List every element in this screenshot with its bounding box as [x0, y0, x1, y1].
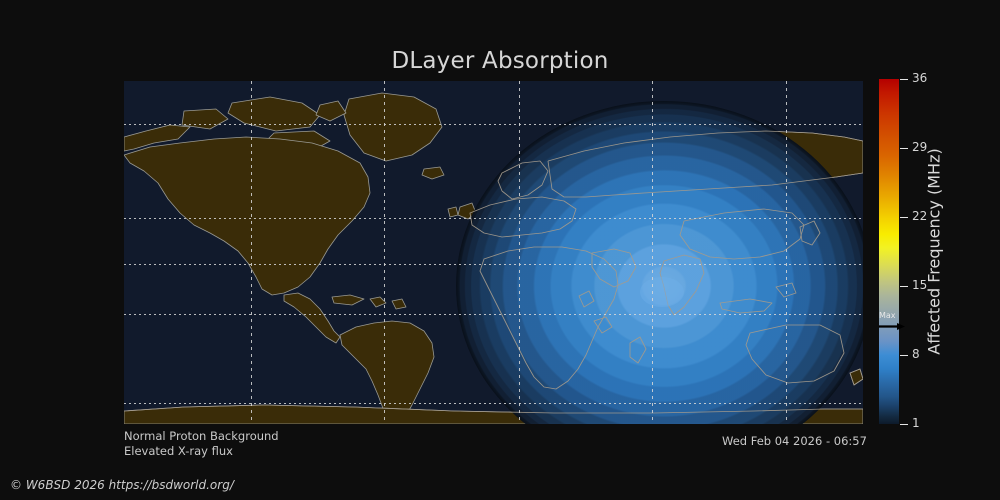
absorption-map[interactable]: [124, 81, 863, 424]
colorbar-tick-mark: [900, 217, 908, 218]
colorbar-axis-label-text: Affected Frequency (MHz): [925, 148, 944, 354]
colorbar-axis-label: Affected Frequency (MHz): [919, 79, 949, 424]
map-canvas: [124, 81, 863, 424]
colorbar[interactable]: 36 29 22 15 8 1: [879, 79, 899, 424]
colorbar-tick-mark: [900, 148, 908, 149]
copyright-notice: © W6BSD 2026 https://bsdworld.org/: [10, 478, 234, 492]
timestamp: Wed Feb 04 2026 - 06:57: [722, 434, 867, 448]
colorbar-gradient: [879, 79, 899, 424]
colorbar-tick-mark: [900, 79, 908, 80]
status-xray-flux: Elevated X-ray flux: [124, 444, 233, 458]
colorbar-tick-mark: [900, 286, 908, 287]
colorbar-tick-mark: [900, 424, 908, 425]
colorbar-tick-mark: [900, 355, 908, 356]
status-proton-background: Normal Proton Background: [124, 429, 279, 443]
page-title: DLayer Absorption: [0, 48, 1000, 74]
